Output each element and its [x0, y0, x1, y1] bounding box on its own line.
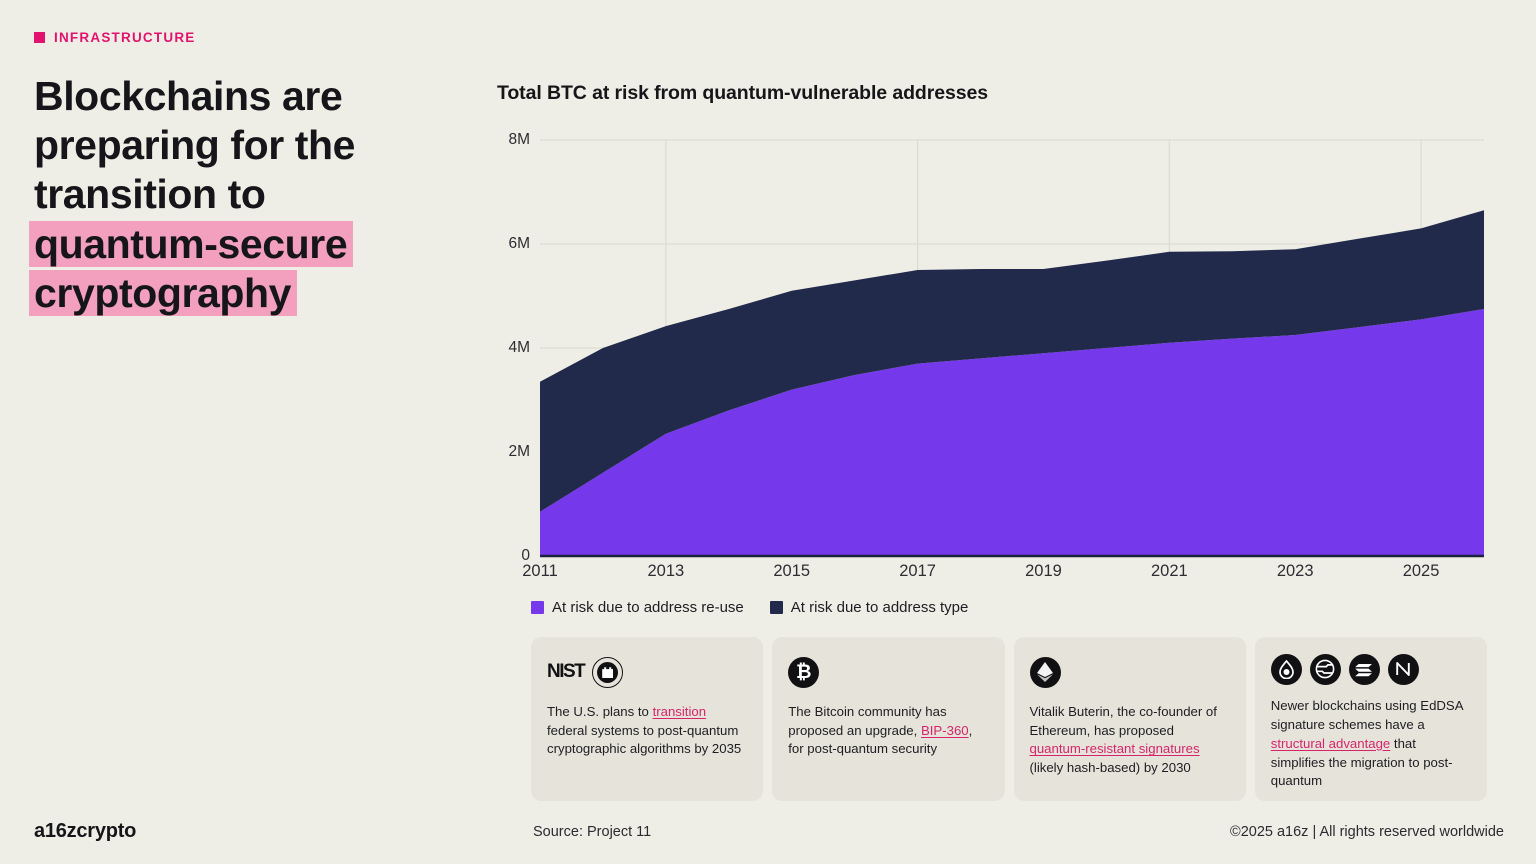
fact-card: NISTThe U.S. plans to transition federal…: [531, 637, 763, 801]
x-axis-tick-label: 2025: [1403, 562, 1440, 581]
card-inline-link[interactable]: quantum-resistant signatures: [1030, 741, 1200, 756]
x-axis-tick-label: 2017: [899, 562, 936, 581]
legend-item[interactable]: At risk due to address type: [770, 599, 969, 616]
aptos-icon: [1310, 654, 1341, 685]
chart-plot-area: 02M4M6M8M 6,650,280 Total BTC at risk $7…: [497, 130, 1487, 562]
card-inline-link[interactable]: transition: [653, 704, 707, 719]
card-icon-row: NIST: [547, 653, 747, 691]
headline-line-5: cryptography: [34, 270, 291, 316]
copyright-note: ©2025 a16z | All rights reserved worldwi…: [1230, 824, 1504, 840]
x-axis-tick-label: 2023: [1277, 562, 1314, 581]
x-axis-tick-label: 2013: [648, 562, 685, 581]
fact-card: Newer blockchains using EdDSA signature …: [1255, 637, 1487, 801]
card-text: The Bitcoin community has proposed an up…: [788, 703, 988, 759]
source-note: Source: Project 11: [533, 824, 651, 840]
legend-label: At risk due to address type: [791, 599, 969, 616]
card-text: Vitalik Buterin, the co-founder of Ether…: [1030, 703, 1230, 778]
near-icon: [1388, 654, 1419, 685]
headline-line-4: quantum-secure: [34, 221, 347, 267]
fact-card: ₿The Bitcoin community has proposed an u…: [772, 637, 1004, 801]
headline-line-2: preparing for the: [34, 121, 454, 170]
card-icon-row: [1271, 653, 1471, 685]
infographic-root: INFRASTRUCTURE Blockchains are preparing…: [0, 0, 1536, 864]
card-inline-link[interactable]: structural advantage: [1271, 736, 1391, 751]
card-icon-row: [1030, 653, 1230, 691]
legend-swatch-icon: [770, 601, 783, 614]
legend-item[interactable]: At risk due to address re-use: [531, 599, 744, 616]
legend-swatch-icon: [531, 601, 544, 614]
fact-cards: NISTThe U.S. plans to transition federal…: [531, 637, 1487, 801]
x-axis-tick-label: 2021: [1151, 562, 1188, 581]
bitcoin-icon: ₿: [788, 657, 819, 688]
solana-icon: [1349, 654, 1380, 685]
page-title: Blockchains are preparing for the transi…: [34, 72, 454, 318]
x-axis-labels: 20112013201520172019202120232025: [497, 562, 1487, 590]
card-text: The U.S. plans to transition federal sys…: [547, 703, 747, 759]
card-inline-link[interactable]: BIP-360: [921, 723, 969, 738]
brand-logo: a16zcrypto: [34, 820, 136, 843]
x-axis-tick-label: 2011: [522, 562, 557, 581]
category-kicker: INFRASTRUCTURE: [34, 30, 196, 45]
x-axis-tick-label: 2015: [773, 562, 810, 581]
area-chart-svg: [497, 130, 1487, 562]
ethereum-icon: [1030, 657, 1061, 688]
headline-line-1: Blockchains are: [34, 72, 454, 121]
chart-title: Total BTC at risk from quantum-vulnerabl…: [497, 82, 988, 105]
kicker-label: INFRASTRUCTURE: [54, 30, 196, 45]
sui-icon: [1271, 654, 1302, 685]
nist-wordmark-icon: NIST: [547, 661, 584, 683]
x-axis-tick-label: 2019: [1025, 562, 1062, 581]
legend-label: At risk due to address re-use: [552, 599, 744, 616]
card-icon-row: ₿: [788, 653, 988, 691]
kicker-square-icon: [34, 32, 45, 43]
nist-seal-icon: [592, 657, 623, 688]
fact-card: Vitalik Buterin, the co-founder of Ether…: [1014, 637, 1246, 801]
card-text: Newer blockchains using EdDSA signature …: [1271, 697, 1471, 791]
chart-legend: At risk due to address re-useAt risk due…: [531, 599, 968, 616]
headline-line-3: transition to: [34, 170, 454, 219]
